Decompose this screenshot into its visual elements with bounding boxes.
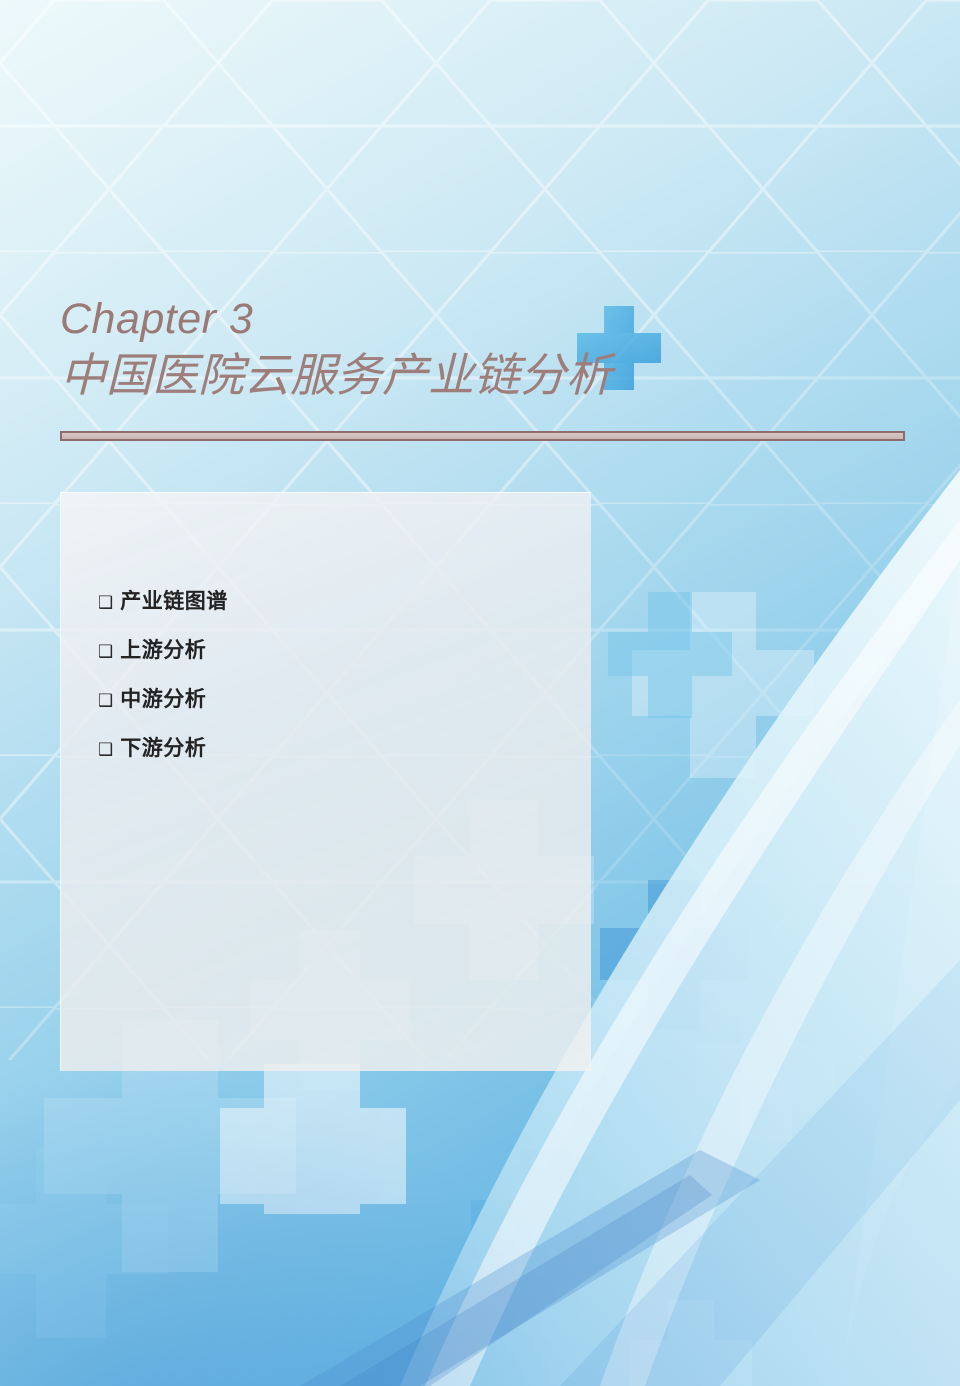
square-bullet-icon: ❑: [98, 644, 113, 661]
list-item[interactable]: ❑ 上游分析: [98, 634, 228, 683]
chapter-label: Chapter 3: [60, 296, 920, 342]
square-bullet-icon: ❑: [98, 693, 113, 710]
list-item[interactable]: ❑ 中游分析: [98, 683, 228, 732]
list-item-label: 下游分析: [120, 732, 206, 762]
content-panel: ❑ 产业链图谱 ❑ 上游分析 ❑ 中游分析 ❑ 下游分析: [60, 492, 591, 1071]
square-bullet-icon: ❑: [98, 595, 113, 612]
square-bullet-icon: ❑: [98, 742, 113, 759]
list-item-label: 中游分析: [120, 683, 206, 713]
title-block: Chapter 3 中国医院云服务产业链分析: [60, 296, 920, 403]
slide-canvas: Chapter 3 中国医院云服务产业链分析 ❑ 产业链图谱 ❑ 上游分析 ❑ …: [0, 0, 960, 1386]
list-item-label: 产业链图谱: [120, 585, 228, 615]
list-item[interactable]: ❑ 下游分析: [98, 732, 228, 781]
list-item[interactable]: ❑ 产业链图谱: [98, 585, 228, 634]
list-item-label: 上游分析: [120, 634, 206, 664]
agenda-list: ❑ 产业链图谱 ❑ 上游分析 ❑ 中游分析 ❑ 下游分析: [98, 585, 228, 781]
title-underline-rule: [60, 431, 905, 441]
page-title: 中国医院云服务产业链分析: [60, 348, 920, 402]
